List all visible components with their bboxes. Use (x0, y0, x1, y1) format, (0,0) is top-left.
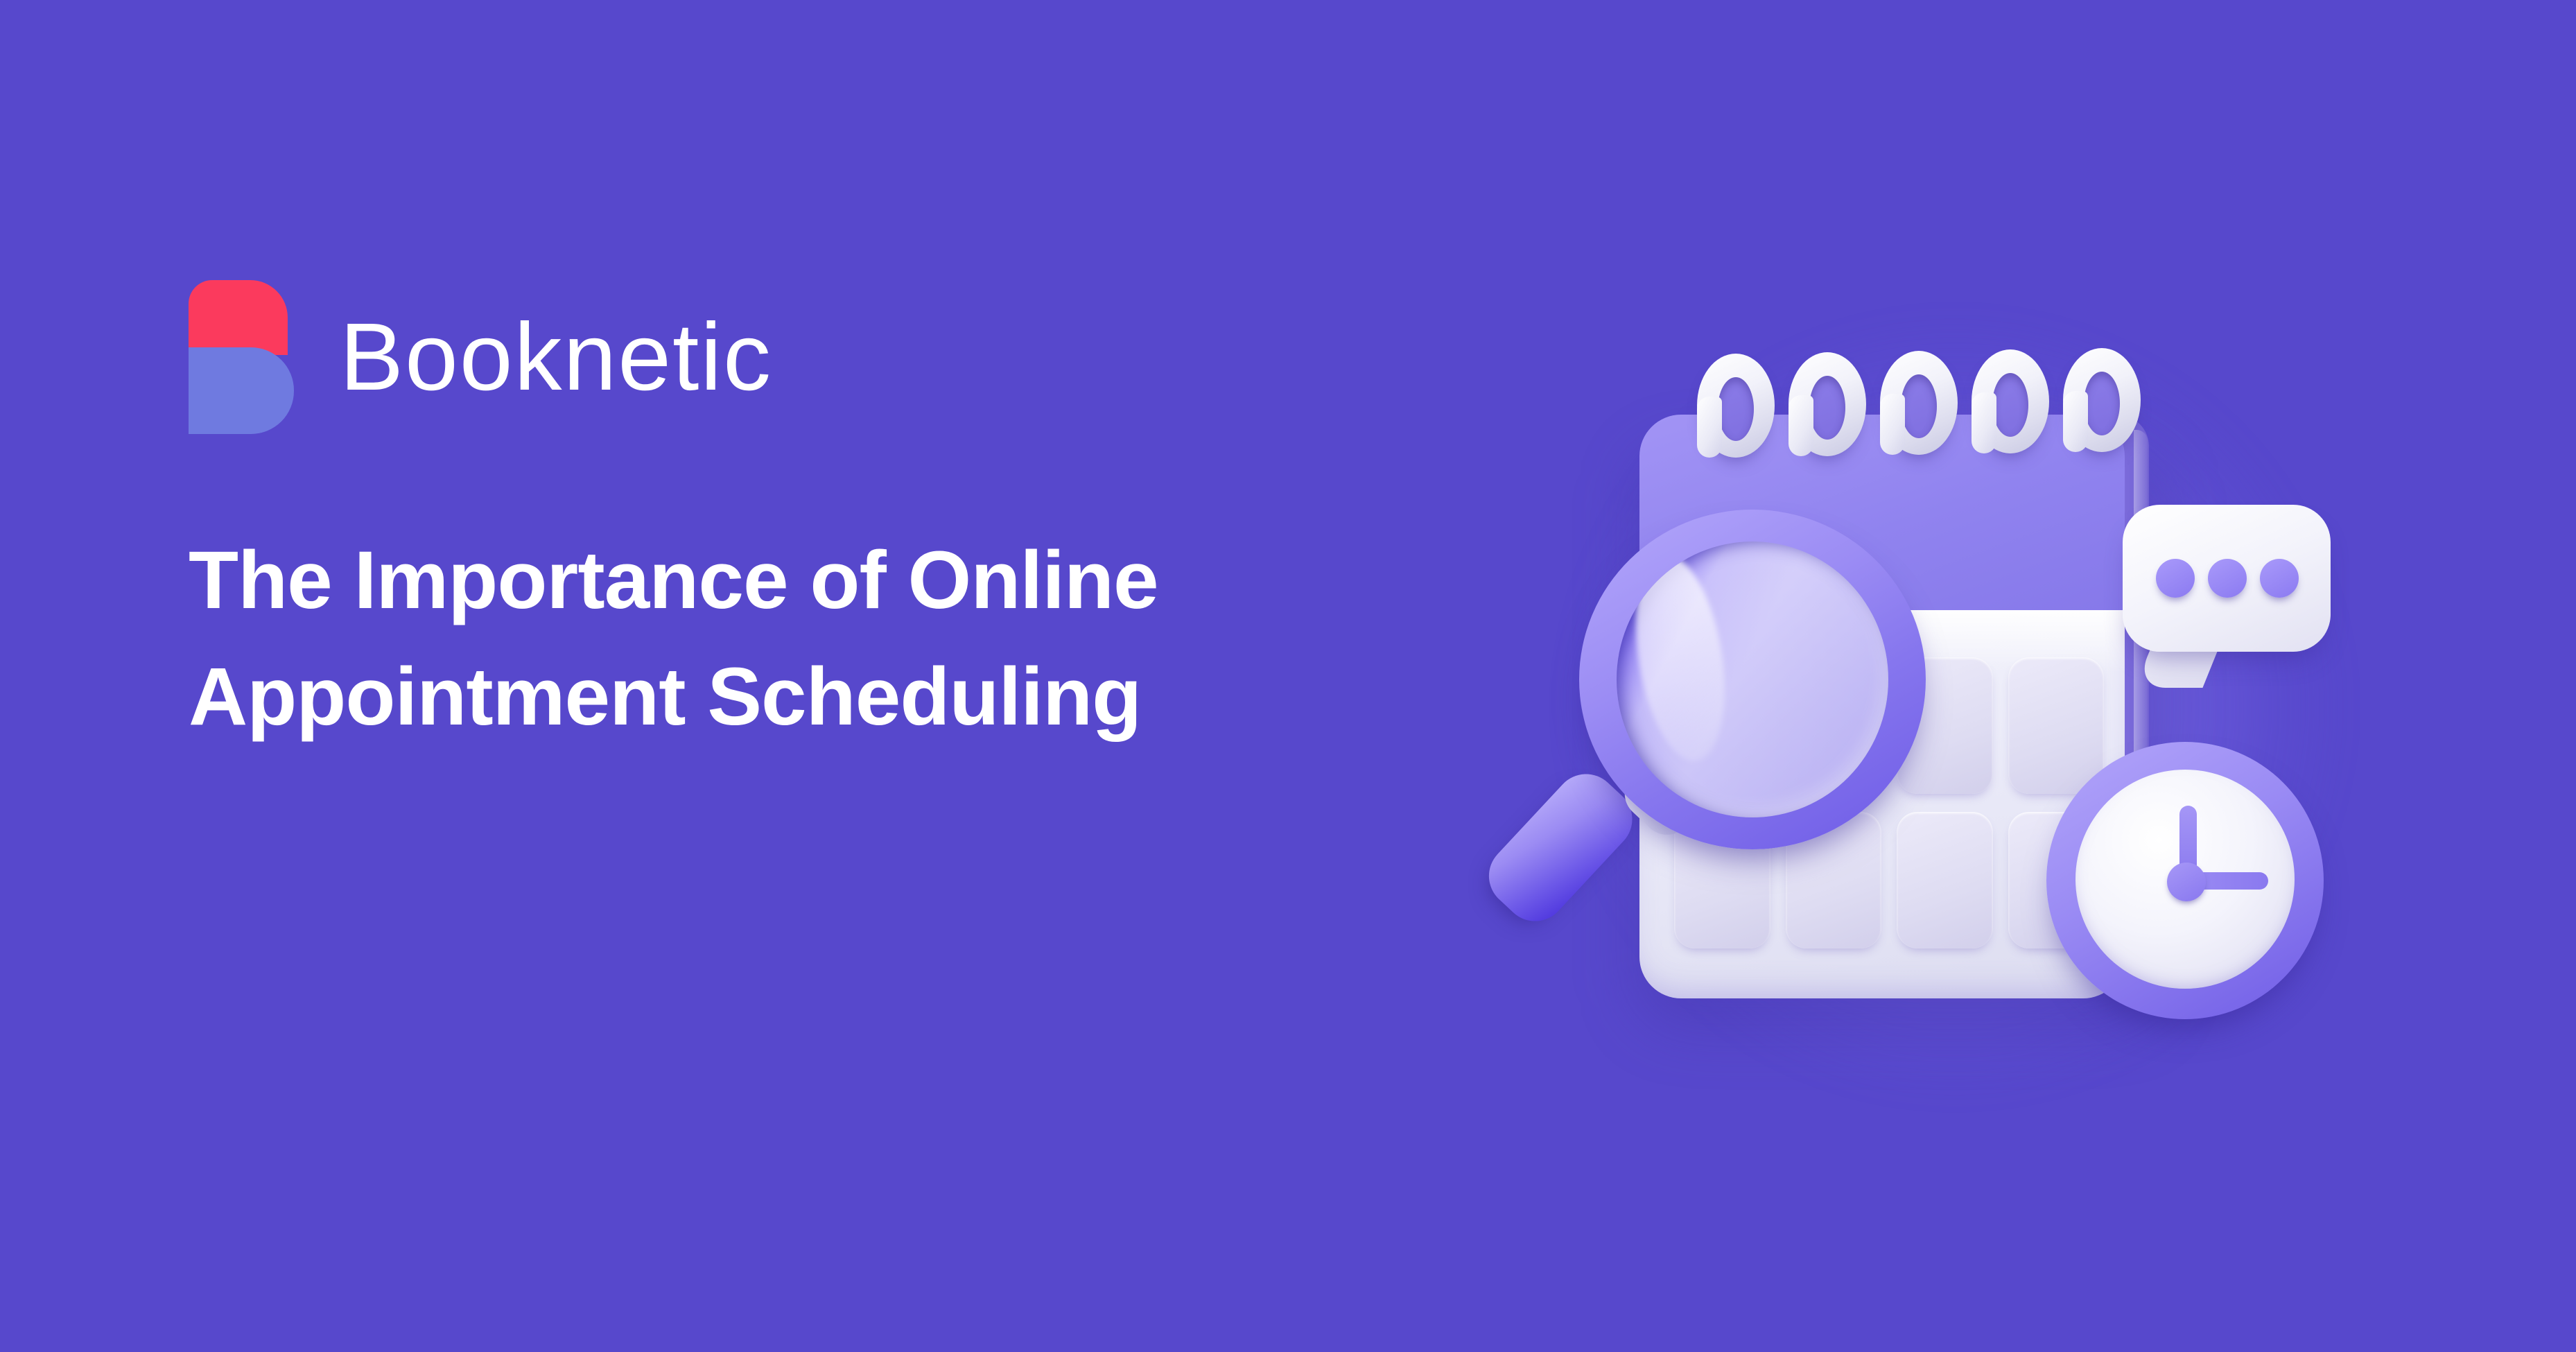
page-title: The Importance of Online Appointment Sch… (189, 523, 1436, 755)
spiral-ring-front (1972, 392, 1996, 453)
spiral-ring-icon (1972, 349, 2049, 453)
spiral-ring-hole (2084, 372, 2120, 435)
page-title-line-2: Appointment Scheduling (189, 639, 1436, 756)
speech-bubble-dots (2156, 559, 2299, 598)
spiral-ring-hole (1718, 377, 1754, 441)
hero-illustration (1532, 312, 2350, 1089)
spiral-ring-front (1880, 394, 1905, 455)
spiral-ring-icon (1697, 354, 1775, 458)
booknetic-b-logo-icon (189, 280, 294, 434)
logo-mark-top-shape (189, 280, 288, 355)
spiral-ring-front (1697, 397, 1722, 458)
magnifier-lens (1617, 541, 1888, 817)
spiral-ring-icon (1880, 351, 1958, 455)
spiral-ring-hole (1809, 376, 1845, 440)
speech-bubble-icon (2123, 505, 2331, 706)
spiral-ring-front (1789, 395, 1813, 456)
banner-hero: Booknetic The Importance of Online Appoi… (0, 0, 2576, 1352)
brand-logo-lockup[interactable]: Booknetic (189, 277, 1436, 437)
clock-pivot (2167, 863, 2206, 901)
spiral-ring-icon (2063, 348, 2141, 452)
hero-text-column: Booknetic The Importance of Online Appoi… (189, 277, 1436, 810)
spiral-ring-icon (1789, 352, 1866, 456)
clock-icon (2046, 742, 2324, 1019)
speech-bubble-dot (2208, 559, 2247, 598)
spiral-ring-front (2063, 391, 2088, 452)
spiral-ring-hole (1992, 373, 2028, 437)
spiral-ring-hole (1901, 374, 1937, 438)
speech-bubble-dot (2156, 559, 2195, 598)
page-title-line-1: The Importance of Online (189, 523, 1436, 639)
speech-bubble-dot (2260, 559, 2299, 598)
magnifier-icon (1551, 496, 1940, 926)
logo-mark-stem-shape (189, 347, 225, 434)
brand-wordmark: Booknetic (340, 309, 772, 405)
